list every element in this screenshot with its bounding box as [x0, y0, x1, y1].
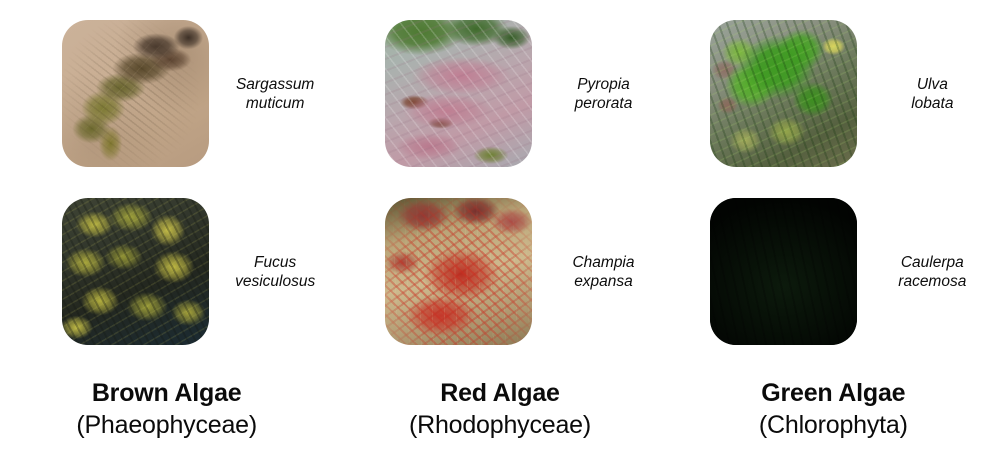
group-common-name: Red Algae	[440, 379, 560, 407]
specimen-card-fucus-vesiculosus[interactable]: Fucus vesiculosus	[0, 198, 333, 345]
species-epithet: lobata	[911, 95, 953, 112]
algae-group-columns: Sargassum muticum Fucus vesiculosus	[0, 0, 1000, 470]
species-epithet: perorata	[575, 95, 633, 112]
species-genus: Sargassum	[236, 76, 314, 93]
photo-texture-layer	[62, 198, 209, 345]
caulerpa-racemosa-photo	[710, 198, 857, 345]
ulva-lobata-photo	[710, 20, 857, 167]
species-label-caulerpa-racemosa: Caulerpa racemosa	[857, 253, 1000, 291]
photo-texture-layer	[385, 20, 532, 167]
group-common-name: Brown Algae	[92, 379, 242, 407]
photo-texture-layer	[385, 198, 532, 345]
group-title-brown-algae: Brown Algae (Phaeophyceae)	[0, 365, 333, 441]
photo-texture-layer	[62, 20, 209, 167]
specimen-card-sargassum-muticum[interactable]: Sargassum muticum	[0, 20, 333, 167]
pyropia-perorata-photo	[385, 20, 532, 167]
species-genus: Pyropia	[577, 76, 630, 93]
group-title-red-algae: Red Algae (Rhodophyceae)	[333, 365, 666, 441]
species-label-sargassum-muticum: Sargassum muticum	[209, 75, 333, 113]
species-epithet: expansa	[574, 273, 633, 290]
algae-group-column-red: Pyropia perorata Champia expansa	[333, 0, 666, 470]
species-epithet: muticum	[246, 95, 305, 112]
species-epithet: vesiculosus	[235, 273, 315, 290]
algae-group-column-green: Ulva lobata Caulerpa racemosa	[667, 0, 1000, 470]
species-epithet: racemosa	[898, 273, 966, 290]
species-genus: Fucus	[254, 254, 296, 271]
species-label-champia-expansa: Champia expansa	[532, 253, 666, 291]
group-taxon-name: (Rhodophyceae)	[333, 409, 666, 441]
group-taxon-name: (Chlorophyta)	[667, 409, 1000, 441]
specimen-list-red: Pyropia perorata Champia expansa	[333, 0, 666, 365]
sargassum-muticum-photo	[62, 20, 209, 167]
species-label-ulva-lobata: Ulva lobata	[857, 75, 1000, 113]
group-taxon-name: (Phaeophyceae)	[0, 409, 333, 441]
specimen-card-ulva-lobata[interactable]: Ulva lobata	[667, 20, 1000, 167]
algae-classification-figure: Sargassum muticum Fucus vesiculosus	[0, 0, 1000, 470]
algae-group-column-brown: Sargassum muticum Fucus vesiculosus	[0, 0, 333, 470]
fucus-vesiculosus-photo	[62, 198, 209, 345]
species-genus: Caulerpa	[901, 254, 964, 271]
group-title-green-algae: Green Algae (Chlorophyta)	[667, 365, 1000, 441]
species-genus: Champia	[572, 254, 634, 271]
species-genus: Ulva	[917, 76, 948, 93]
specimen-card-champia-expansa[interactable]: Champia expansa	[333, 198, 666, 345]
specimen-card-pyropia-perorata[interactable]: Pyropia perorata	[333, 20, 666, 167]
champia-expansa-photo	[385, 198, 532, 345]
photo-texture-layer	[710, 198, 857, 345]
species-label-fucus-vesiculosus: Fucus vesiculosus	[209, 253, 333, 291]
group-common-name: Green Algae	[761, 379, 905, 407]
species-label-pyropia-perorata: Pyropia perorata	[532, 75, 666, 113]
specimen-list-brown: Sargassum muticum Fucus vesiculosus	[0, 0, 333, 365]
photo-texture-layer	[710, 20, 857, 167]
specimen-card-caulerpa-racemosa[interactable]: Caulerpa racemosa	[667, 198, 1000, 345]
specimen-list-green: Ulva lobata Caulerpa racemosa	[667, 0, 1000, 365]
